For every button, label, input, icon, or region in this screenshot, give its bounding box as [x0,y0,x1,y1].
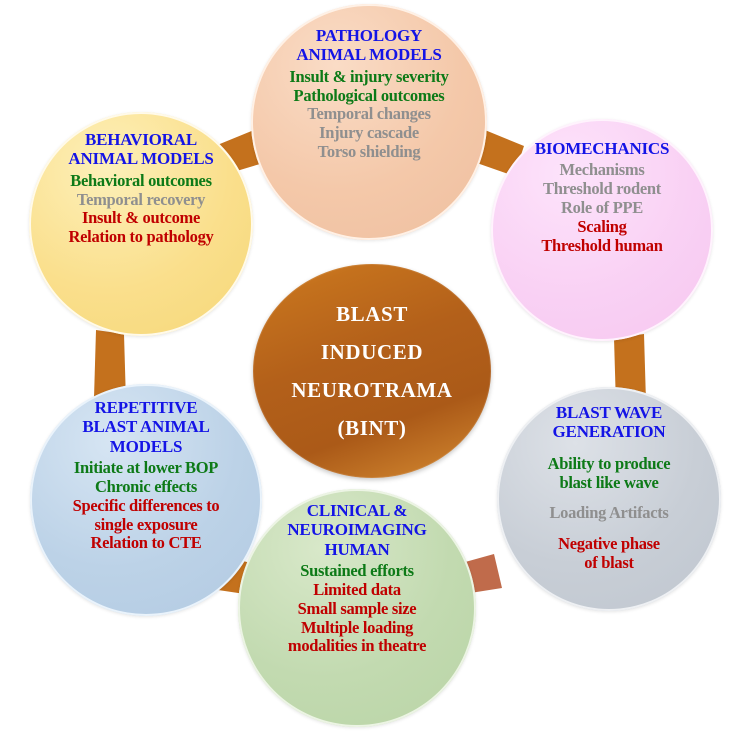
node-clinical-neuroimaging-human[interactable]: CLINICAL & NEUROIMAGING HUMAN Sustained … [238,489,476,727]
center-line: NEUROTRAMA [291,378,452,403]
node-title: BEHAVIORAL ANIMAL MODELS [68,130,213,169]
center-node-bint[interactable]: BLAST INDUCED NEUROTRAMA (BINT) [253,264,491,478]
node-item: Specific differences to single exposure [73,497,220,535]
node-item: Ability to produce blast like wave [548,455,671,493]
node-item: Limited data [313,581,401,600]
node-item: Small sample size [298,600,417,619]
node-title: REPETITIVE BLAST ANIMAL MODELS [82,398,209,456]
node-item: Scaling [577,218,626,237]
node-title: BIOMECHANICS [535,139,670,158]
node-item: Initiate at lower BOP [74,459,218,478]
node-item: Negative phase of blast [558,535,660,573]
node-item: Behavioral outcomes [70,172,211,191]
node-item: Pathological outcomes [294,87,445,106]
center-line: INDUCED [321,340,423,365]
node-repetitive-blast-animal-models[interactable]: REPETITIVE BLAST ANIMAL MODELS Initiate … [30,384,262,616]
node-item: Insult & outcome [82,209,200,228]
node-title: BLAST WAVE GENERATION [553,403,666,442]
node-item: Temporal changes [307,105,430,124]
node-item: Chronic effects [95,478,197,497]
diagram-canvas: PATHOLOGY ANIMAL MODELS Insult & injury … [0,0,740,734]
node-title: CLINICAL & NEUROIMAGING HUMAN [287,501,426,559]
center-line: BLAST [336,302,408,327]
node-item: Mechanisms [560,161,645,180]
node-item: Relation to pathology [69,228,214,247]
node-title: PATHOLOGY ANIMAL MODELS [296,26,441,65]
node-item: Multiple loading modalities in theatre [288,619,426,657]
node-behavioral-animal-models[interactable]: BEHAVIORAL ANIMAL MODELS Behavioral outc… [29,112,253,336]
node-pathology-animal-models[interactable]: PATHOLOGY ANIMAL MODELS Insult & injury … [251,4,487,240]
node-item: Role of PPE [561,199,643,218]
node-item: Temporal recovery [77,191,205,210]
node-item: Threshold rodent [543,180,661,199]
node-item: Threshold human [541,237,662,256]
node-blast-wave-generation[interactable]: BLAST WAVE GENERATION Ability to produce… [497,387,721,611]
node-item: Injury cascade [319,124,419,143]
node-item: Loading Artifacts [549,504,668,523]
node-biomechanics[interactable]: BIOMECHANICS Mechanisms Threshold rodent… [491,119,713,341]
node-item: Relation to CTE [90,534,201,553]
node-item: Torso shielding [318,143,421,162]
center-line: (BINT) [338,416,407,441]
node-item: Insult & injury severity [289,68,448,87]
node-item: Sustained efforts [300,562,414,581]
